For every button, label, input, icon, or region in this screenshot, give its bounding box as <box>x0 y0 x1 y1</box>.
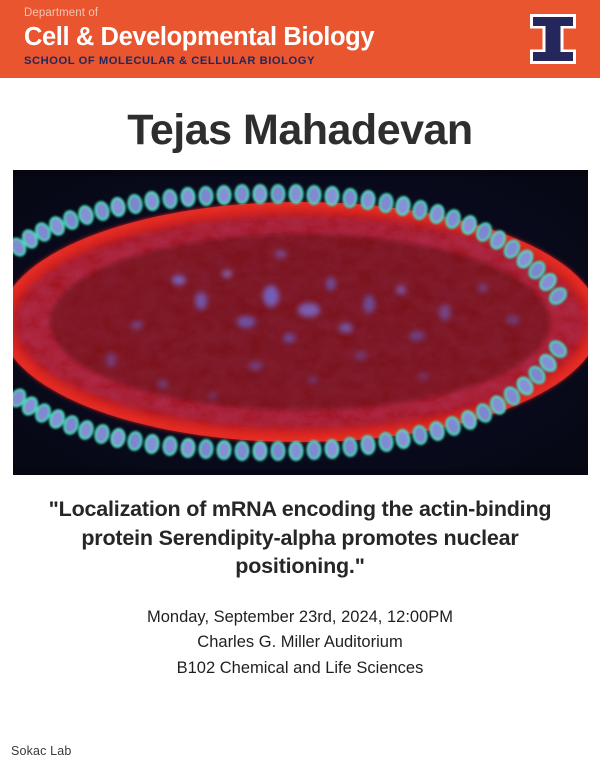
event-building: B102 Chemical and Life Sciences <box>0 656 600 682</box>
event-datetime: Monday, September 23rd, 2024, 12:00PM <box>0 605 600 631</box>
event-venue: Charles G. Miller Auditorium <box>0 630 600 656</box>
speaker-name: Tejas Mahadevan <box>0 105 600 155</box>
illinois-block-i-logo <box>522 8 584 70</box>
event-details: Monday, September 23rd, 2024, 12:00PM Ch… <box>0 605 600 682</box>
talk-title: "Localization of mRNA encoding the actin… <box>22 495 578 581</box>
talk-title-line-1: "Localization of mRNA encoding the <box>49 497 414 521</box>
department-name-title: Cell & Developmental Biology <box>24 22 374 52</box>
site-header-banner: Department of Cell & Developmental Biolo… <box>0 0 600 78</box>
school-name-subtitle: SCHOOL OF MOLECULAR & CELLULAR BIOLOGY <box>24 54 374 69</box>
department-of-label: Department of <box>24 5 374 21</box>
header-text-block: Department of Cell & Developmental Biolo… <box>24 5 374 69</box>
embryo-micrograph <box>13 170 588 475</box>
footer-lab-name: Sokac Lab <box>11 744 71 758</box>
